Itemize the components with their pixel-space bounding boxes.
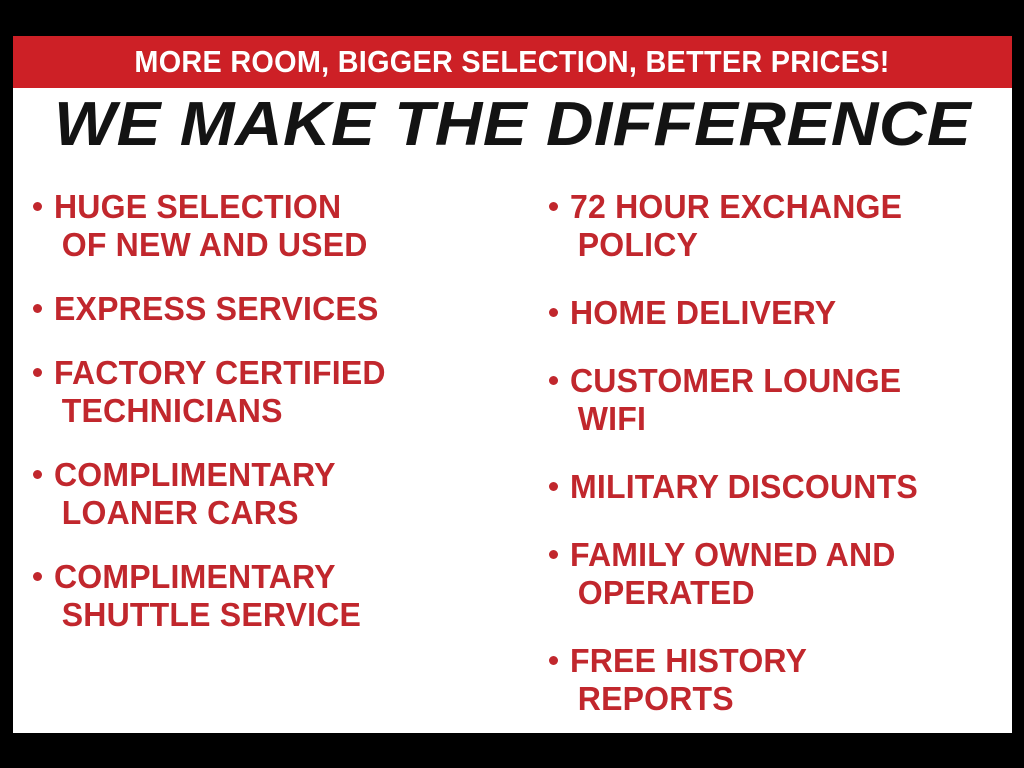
poster-card: MORE ROOM, BIGGER SELECTION, BETTER PRIC… bbox=[13, 36, 1012, 733]
bullet-line-secondary: OPERATED bbox=[570, 574, 896, 612]
bullet-dot-icon bbox=[33, 470, 42, 479]
bullet-item: HOME DELIVERY bbox=[549, 294, 1012, 332]
poster-frame: MORE ROOM, BIGGER SELECTION, BETTER PRIC… bbox=[0, 0, 1024, 768]
bullet-line-secondary: SHUTTLE SERVICE bbox=[54, 596, 361, 634]
headline-container: WE MAKE THE DIFFERENCE bbox=[13, 94, 1012, 156]
bullet-item: COMPLIMENTARYLOANER CARS bbox=[33, 456, 533, 532]
bullet-columns: HUGE SELECTIONOF NEW AND USEDEXPRESS SER… bbox=[13, 166, 1012, 726]
bullet-dot-icon bbox=[33, 304, 42, 313]
bullet-item-label: CUSTOMER LOUNGEWIFI bbox=[570, 362, 901, 438]
bullet-line-secondary: LOANER CARS bbox=[54, 494, 336, 532]
bullet-item-label: EXPRESS SERVICES bbox=[54, 290, 379, 328]
bullet-dot-icon bbox=[549, 202, 558, 211]
bullet-item-label: COMPLIMENTARYSHUTTLE SERVICE bbox=[54, 558, 361, 634]
bullet-line-secondary: TECHNICIANS bbox=[54, 392, 386, 430]
bullet-item: FACTORY CERTIFIEDTECHNICIANS bbox=[33, 354, 533, 430]
bullet-dot-icon bbox=[549, 656, 558, 665]
bullet-item-label: 72 HOUR EXCHANGEPOLICY bbox=[570, 188, 902, 264]
bullet-item: MILITARY DISCOUNTS bbox=[549, 468, 1012, 506]
bullet-line-primary: HUGE SELECTION bbox=[54, 188, 341, 225]
bullet-line-secondary: REPORTS bbox=[570, 680, 807, 718]
bullet-item-label: FACTORY CERTIFIEDTECHNICIANS bbox=[54, 354, 386, 430]
bullet-dot-icon bbox=[33, 202, 42, 211]
bullet-dot-icon bbox=[549, 482, 558, 491]
page-title: WE MAKE THE DIFFERENCE bbox=[54, 94, 971, 156]
bullet-line-primary: CUSTOMER LOUNGE bbox=[570, 362, 901, 399]
bullet-item: FAMILY OWNED ANDOPERATED bbox=[549, 536, 1012, 612]
bullet-dot-icon bbox=[549, 550, 558, 559]
bullet-item-label: MILITARY DISCOUNTS bbox=[570, 468, 918, 506]
bullet-item: EXPRESS SERVICES bbox=[33, 290, 533, 328]
bullet-item-label: HUGE SELECTIONOF NEW AND USED bbox=[54, 188, 368, 264]
bullet-item: COMPLIMENTARYSHUTTLE SERVICE bbox=[33, 558, 533, 634]
bullet-line-primary: HOME DELIVERY bbox=[570, 294, 836, 331]
bullet-dot-icon bbox=[33, 368, 42, 377]
bullet-line-secondary: POLICY bbox=[570, 226, 902, 264]
bullet-line-primary: FACTORY CERTIFIED bbox=[54, 354, 386, 391]
bullet-item: 72 HOUR EXCHANGEPOLICY bbox=[549, 188, 1012, 264]
bullet-item-label: COMPLIMENTARYLOANER CARS bbox=[54, 456, 336, 532]
bullet-dot-icon bbox=[33, 572, 42, 581]
bullet-line-primary: FAMILY OWNED AND bbox=[570, 536, 896, 573]
bullet-dot-icon bbox=[549, 376, 558, 385]
bullet-item-label: FREE HISTORYREPORTS bbox=[570, 642, 807, 718]
promo-banner: MORE ROOM, BIGGER SELECTION, BETTER PRIC… bbox=[13, 36, 1012, 88]
promo-banner-text: MORE ROOM, BIGGER SELECTION, BETTER PRIC… bbox=[135, 44, 890, 80]
bullet-item: CUSTOMER LOUNGEWIFI bbox=[549, 362, 1012, 438]
bullet-line-primary: COMPLIMENTARY bbox=[54, 456, 336, 493]
bullet-line-primary: COMPLIMENTARY bbox=[54, 558, 336, 595]
bullet-line-primary: FREE HISTORY bbox=[570, 642, 807, 679]
bullet-column-left: HUGE SELECTIONOF NEW AND USEDEXPRESS SER… bbox=[13, 166, 533, 660]
bullet-dot-icon bbox=[549, 308, 558, 317]
bullet-item: HUGE SELECTIONOF NEW AND USED bbox=[33, 188, 533, 264]
bullet-line-primary: 72 HOUR EXCHANGE bbox=[570, 188, 902, 225]
bullet-line-secondary: OF NEW AND USED bbox=[54, 226, 368, 264]
bullet-item-label: FAMILY OWNED ANDOPERATED bbox=[570, 536, 896, 612]
bullet-item: FREE HISTORYREPORTS bbox=[549, 642, 1012, 718]
bullet-line-primary: MILITARY DISCOUNTS bbox=[570, 468, 918, 505]
bullet-column-right: 72 HOUR EXCHANGEPOLICYHOME DELIVERYCUSTO… bbox=[533, 166, 1012, 733]
bullet-line-primary: EXPRESS SERVICES bbox=[54, 290, 379, 327]
bullet-line-secondary: WIFI bbox=[570, 400, 901, 438]
bullet-item-label: HOME DELIVERY bbox=[570, 294, 836, 332]
